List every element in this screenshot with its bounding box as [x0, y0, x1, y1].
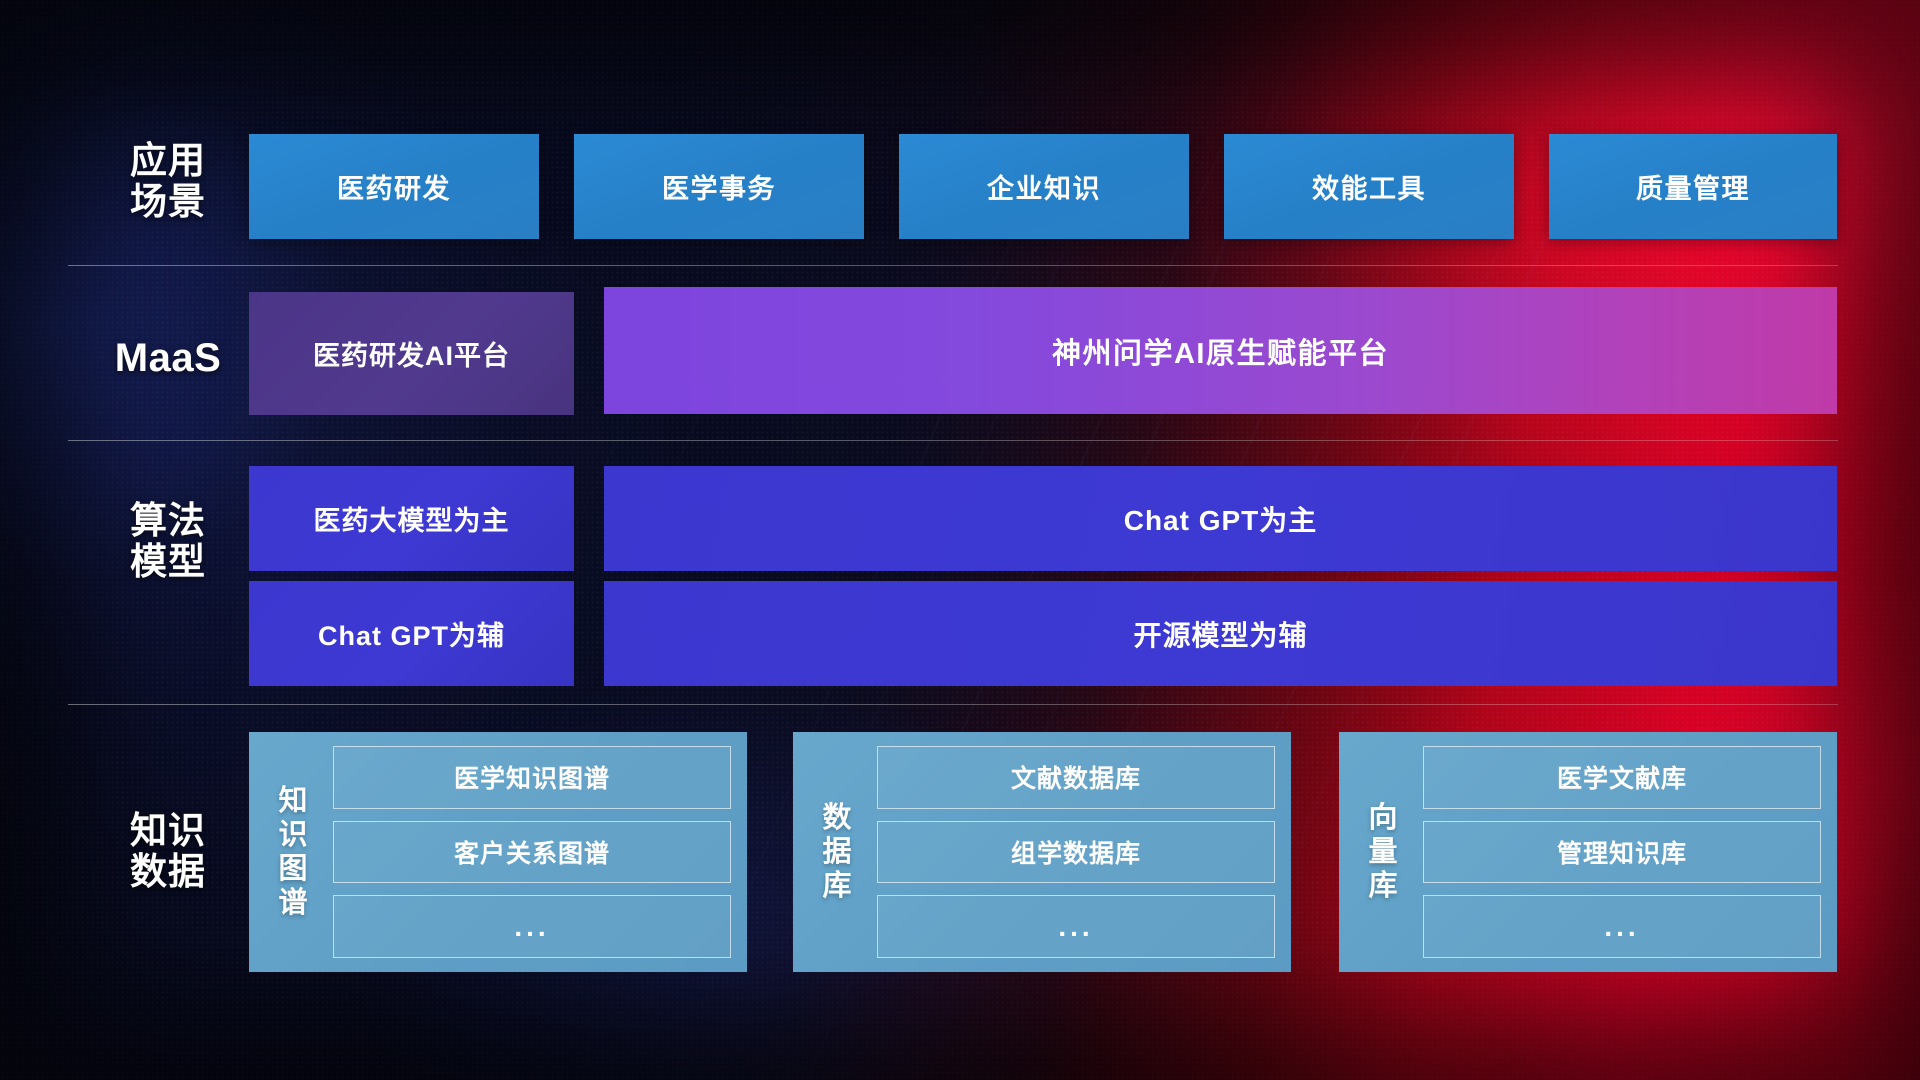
row-label-algo-line-1: 算法: [88, 500, 248, 541]
maas-platform-label-drug-rd: 医药研发AI平台: [313, 334, 510, 373]
knowledge-panel-label-knowledge-graph: 知识图谱: [267, 784, 319, 921]
app-scenario-box-4[interactable]: 效能工具: [1224, 134, 1514, 239]
app-scenario-label-5: 质量管理: [1636, 167, 1750, 206]
algorithm-label-right-1: Chat GPT为主: [1124, 499, 1318, 539]
algorithm-label-left-2: Chat GPT为辅: [318, 614, 505, 653]
algorithm-box-right-2[interactable]: 开源模型为辅: [604, 581, 1837, 686]
app-scenario-box-3[interactable]: 企业知识: [899, 134, 1189, 239]
maas-platform-box-shenzhou[interactable]: 神州问学AI原生赋能平台: [604, 287, 1837, 414]
algorithm-box-left-1[interactable]: 医药大模型为主: [249, 466, 574, 571]
maas-platform-label-shenzhou: 神州问学AI原生赋能平台: [1052, 330, 1389, 372]
row-separator-3: [68, 704, 1838, 705]
knowledge-panel-vector-store[interactable]: 向量库 医学文献库 管理知识库 ...: [1339, 732, 1837, 972]
app-scenario-box-5[interactable]: 质量管理: [1549, 134, 1837, 239]
row-label-algorithm-models: 算法 模型: [88, 500, 248, 583]
row-label-application-scenarios: 应用 场景: [88, 140, 248, 223]
knowledge-item-db-2[interactable]: 组学数据库: [877, 821, 1275, 884]
knowledge-panel-label-vector-store: 向量库: [1357, 801, 1409, 904]
knowledge-panel-label-database: 数据库: [811, 801, 863, 904]
knowledge-item-vs-2[interactable]: 管理知识库: [1423, 821, 1821, 884]
knowledge-item-kg-3[interactable]: ...: [333, 895, 731, 958]
knowledge-panel-items-knowledge-graph: 医学知识图谱 客户关系图谱 ...: [333, 746, 731, 958]
app-scenario-label-1: 医药研发: [337, 167, 451, 206]
maas-platform-box-drug-rd[interactable]: 医药研发AI平台: [249, 292, 574, 415]
knowledge-panel-knowledge-graph[interactable]: 知识图谱 医学知识图谱 客户关系图谱 ...: [249, 732, 747, 972]
row-label-line-2: 场景: [88, 181, 248, 222]
row-label-knowledge-data: 知识 数据: [88, 810, 248, 893]
algorithm-box-left-2[interactable]: Chat GPT为辅: [249, 581, 574, 686]
knowledge-panel-items-database: 文献数据库 组学数据库 ...: [877, 746, 1275, 958]
row-separator-2: [68, 440, 1838, 441]
knowledge-item-kg-2[interactable]: 客户关系图谱: [333, 821, 731, 884]
row-label-line-1: 应用: [88, 140, 248, 181]
knowledge-item-vs-1[interactable]: 医学文献库: [1423, 746, 1821, 809]
row-label-maas: MaaS: [88, 336, 248, 381]
algorithm-label-right-2: 开源模型为辅: [1133, 614, 1307, 654]
algorithm-label-left-1: 医药大模型为主: [314, 499, 510, 538]
diagram-canvas: 应用 场景 医药研发 医学事务 企业知识 效能工具 质量管理 MaaS 医药研发…: [0, 0, 1920, 1080]
row-separator-1: [68, 265, 1838, 266]
app-scenario-box-1[interactable]: 医药研发: [249, 134, 539, 239]
algorithm-box-right-1[interactable]: Chat GPT为主: [604, 466, 1837, 571]
row-label-maas-text: MaaS: [88, 336, 248, 381]
app-scenario-label-3: 企业知识: [987, 167, 1101, 206]
knowledge-panel-items-vector-store: 医学文献库 管理知识库 ...: [1423, 746, 1821, 958]
app-scenario-label-2: 医学事务: [662, 167, 776, 206]
app-scenario-box-2[interactable]: 医学事务: [574, 134, 864, 239]
row-label-algo-line-2: 模型: [88, 541, 248, 582]
app-scenario-label-4: 效能工具: [1312, 167, 1426, 206]
row-label-knowledge-line-1: 知识: [88, 810, 248, 851]
knowledge-panel-database[interactable]: 数据库 文献数据库 组学数据库 ...: [793, 732, 1291, 972]
knowledge-item-kg-1[interactable]: 医学知识图谱: [333, 746, 731, 809]
row-label-knowledge-line-2: 数据: [88, 851, 248, 892]
knowledge-item-vs-3[interactable]: ...: [1423, 895, 1821, 958]
knowledge-item-db-3[interactable]: ...: [877, 895, 1275, 958]
knowledge-item-db-1[interactable]: 文献数据库: [877, 746, 1275, 809]
